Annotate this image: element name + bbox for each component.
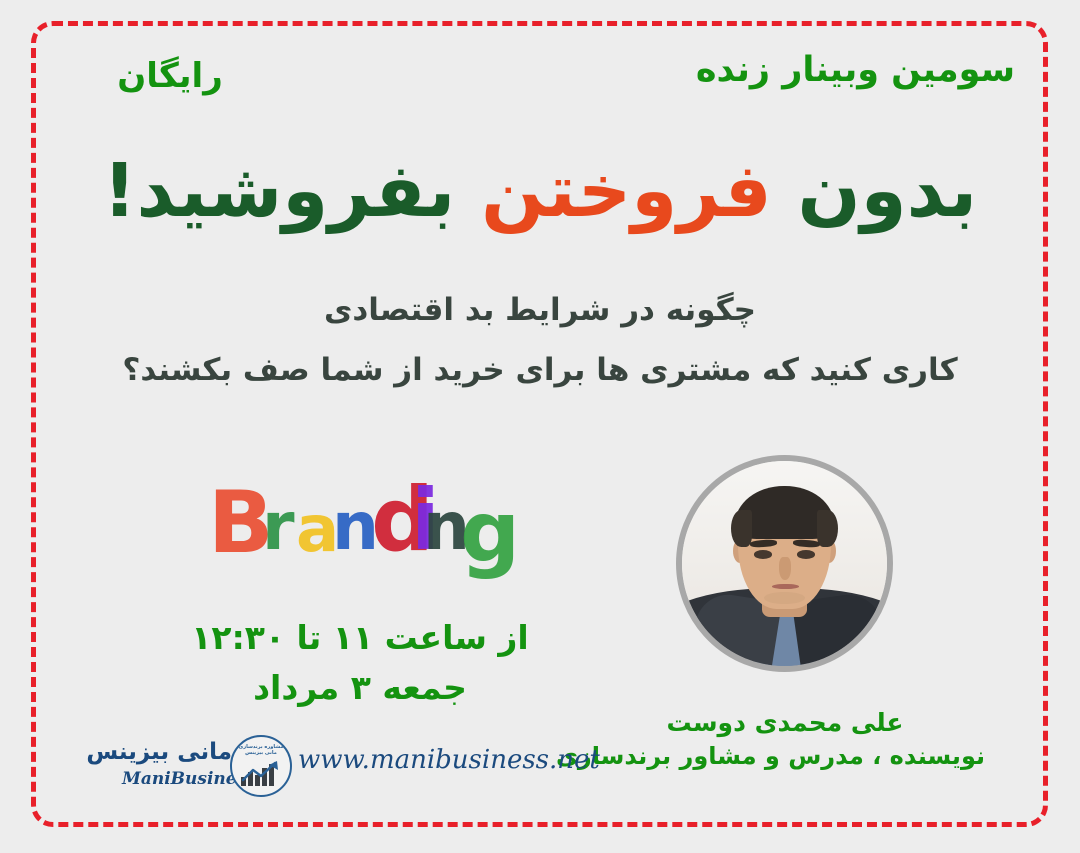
badge-tagline: مشاوره برندسازی مانی بیزینس: [230, 744, 292, 757]
portrait-nose: [779, 557, 790, 580]
manibusiness-logo[interactable]: مانی بیزینس ManiBusiness مشاوره برندسازی…: [110, 735, 290, 807]
badge-tagline-line-2: مانی بیزینس: [230, 750, 292, 756]
up-arrow-icon: [241, 760, 281, 786]
headline-accent-word: فروختن: [481, 148, 772, 234]
bar-chart-icon: [241, 760, 281, 786]
speaker-name: علی محمدی دوست: [585, 708, 985, 737]
speaker-role: نویسنده ، مدرس و مشاور برندسازی: [585, 742, 985, 770]
branding-letter-g-7: g: [460, 490, 520, 574]
portrait-eye-right: [797, 550, 815, 559]
headline-part-2: بفروشید!: [103, 148, 481, 234]
subtitle-line-2: کاری کنید که مشتری ها برای خرید از شما ص…: [0, 352, 1080, 388]
speaker-avatar: [676, 455, 893, 672]
subtitle-line-1: چگونه در شرایط بد اقتصادی: [0, 292, 1080, 328]
headline-part-1: بدون: [772, 148, 977, 234]
portrait-hair-side-right: [817, 510, 838, 547]
free-badge-label: رایگان: [60, 56, 280, 96]
growth-chart-badge-icon: مشاوره برندسازی مانی بیزینس: [230, 735, 292, 797]
branding-wordmark-logo: Branding: [208, 476, 488, 572]
portrait-eye-left: [754, 550, 772, 559]
webinar-date: جمعه ۳ مرداد: [150, 668, 570, 707]
webinar-series-title: سومین وبینار زنده: [696, 50, 1015, 90]
branding-letter-r-1: r: [262, 494, 295, 560]
website-url[interactable]: www.manibusiness.net: [298, 745, 588, 775]
manibusiness-name-en: ManiBusiness: [122, 769, 232, 789]
manibusiness-name-fa: مانی بیزینس: [86, 739, 232, 765]
webinar-time: از ساعت ۱۱ تا ۱۲:۳۰: [150, 618, 570, 657]
page-title: بدون فروختن بفروشید!: [0, 148, 1080, 235]
webinar-poster: رایگان سومین وبینار زنده بدون فروختن بفر…: [0, 0, 1080, 853]
portrait-hair-side-left: [731, 510, 752, 547]
